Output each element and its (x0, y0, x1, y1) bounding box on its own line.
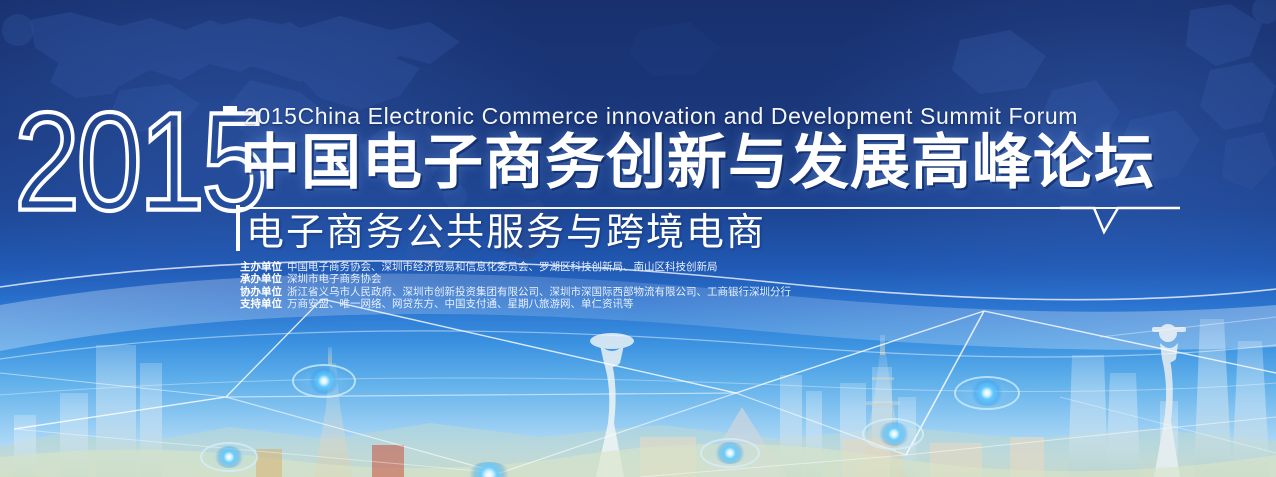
chinese-subtitle: 电子商务公共服务与跨境电商 (246, 212, 766, 254)
organizer-row: 主办单位中国电子商务协会、深圳市经济贸易和信息化委员会、罗湖区科技创新局、南山区… (240, 261, 791, 273)
organizer-label: 协办单位 (240, 286, 282, 298)
organizer-label: 承办单位 (240, 273, 282, 285)
organizer-label: 支持单位 (240, 298, 282, 310)
network-node-4 (214, 446, 244, 468)
organizer-value: 中国电子商务协会、深圳市经济贸易和信息化委员会、罗湖区科技创新局、南山区科技创新… (287, 261, 718, 273)
subtitle-left-bar (236, 205, 240, 251)
organizer-list: 主办单位中国电子商务协会、深圳市经济贸易和信息化委员会、罗湖区科技创新局、南山区… (240, 261, 791, 311)
english-title: 2015China Electronic Commerce innovation… (244, 103, 1078, 130)
title-divider-rule (240, 207, 1120, 209)
organizer-row: 协办单位浙江省义乌市人民政府、深圳市创新投资集团有限公司、深圳市深国际西部物流有… (240, 286, 791, 298)
network-node-5 (714, 442, 746, 464)
organizer-value: 深圳市电子商务协会 (287, 273, 382, 285)
organizer-label: 主办单位 (240, 261, 282, 273)
accent-tick (223, 106, 237, 113)
network-node-3 (878, 422, 910, 446)
organizer-row: 支持单位万商安盟、唯一网络、网贷东方、中国支付通、星期八旅游网、单仁资讯等 (240, 298, 791, 310)
organizer-value: 浙江省义乌市人民政府、深圳市创新投资集团有限公司、深圳市深国际西部物流有限公司、… (287, 286, 791, 298)
organizer-value: 万商安盟、唯一网络、网贷东方、中国支付通、星期八旅游网、单仁资讯等 (287, 298, 634, 310)
network-node-2 (970, 380, 1004, 406)
chinese-title: 中国电子商务创新与发展高峰论坛 (240, 132, 1155, 195)
chevron-decoration (1060, 206, 1180, 252)
organizer-row: 承办单位深圳市电子商务协会 (240, 273, 791, 285)
conference-banner: 2015 2015China Electronic Commerce innov… (0, 0, 1276, 477)
network-node-1 (308, 368, 340, 394)
